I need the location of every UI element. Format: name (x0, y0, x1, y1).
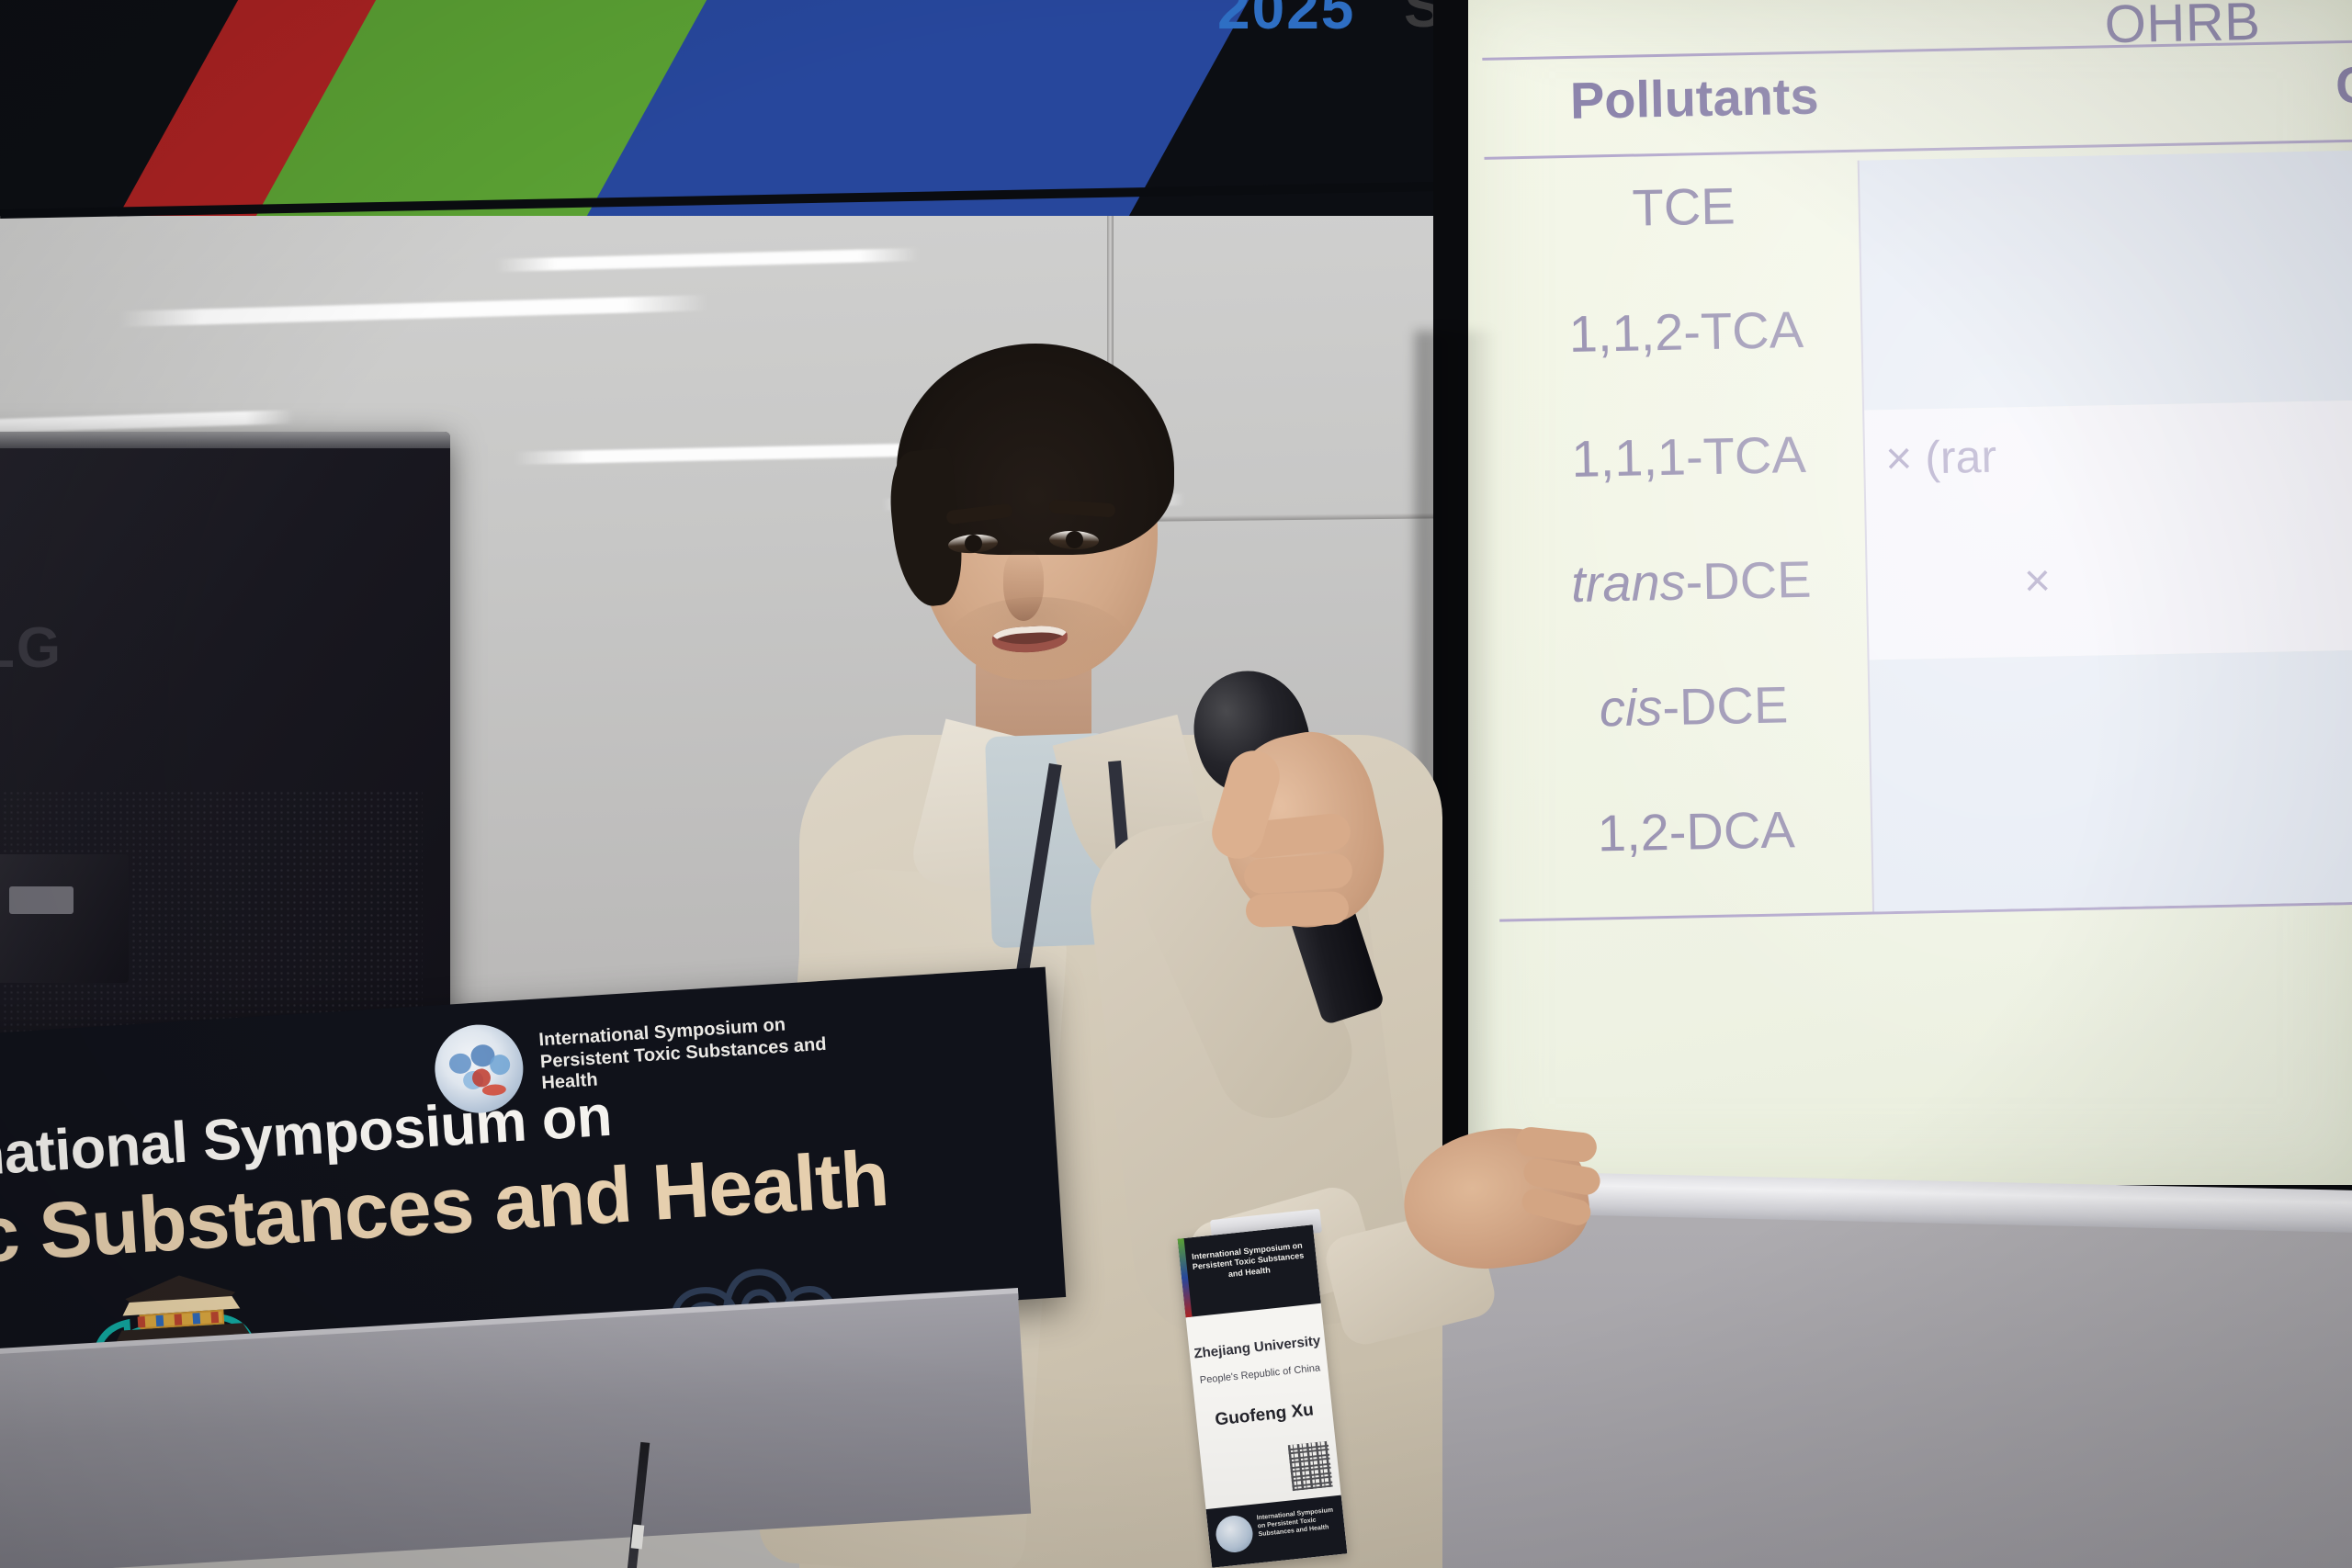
monitor-port (9, 886, 73, 914)
monitor-stand (0, 854, 129, 983)
symposium-logo-text: International Symposium on Persistent To… (538, 1011, 845, 1095)
badge-organization: Zhejiang University (1193, 1333, 1322, 1362)
conference-photo: 2025 S LG OHRB Pollutants C TCE 1,1,2-TC… (0, 0, 2352, 1568)
row-italic-prefix: trans (1571, 553, 1687, 613)
row-pollutant-name: 1,2-DCA (1597, 800, 1795, 862)
badge-country: People's Republic of China (1195, 1362, 1324, 1387)
table-header-c: C (2335, 54, 2352, 115)
monitor-top-edge (0, 432, 450, 448)
table-row: 1,1,2-TCA (1515, 299, 1858, 365)
qr-code-icon (1288, 1441, 1333, 1491)
badge-attendee-name: Guofeng Xu (1199, 1399, 1329, 1433)
lg-logo: LG (0, 615, 62, 681)
row-pollutant-name: 1,1,1-TCA (1571, 425, 1806, 488)
row-italic-prefix: cis (1599, 678, 1663, 737)
speaker-finger (1245, 891, 1349, 928)
table-row: trans-DCE (1520, 548, 1862, 615)
table-row: 1,1,1-TCA (1517, 423, 1860, 490)
row-pollutant-name: -DCE (1685, 550, 1812, 611)
row-pollutant-name: -DCE (1662, 675, 1789, 736)
table-row: 1,2-DCA (1525, 798, 1868, 864)
row-pollutant-name: TCE (1632, 176, 1736, 236)
pointer-stick-tip (631, 1524, 645, 1549)
table-cell-mark: × (2023, 554, 2051, 608)
row-pollutant-name: 1,1,2-TCA (1568, 300, 1804, 363)
table-header-pollutants: Pollutants (1547, 65, 1842, 130)
table-row: TCE (1512, 174, 1855, 240)
presentation-slide: OHRB Pollutants C TCE 1,1,2-TCA 1,1,1-TC… (1461, 0, 2352, 1195)
speaker-nose (1003, 549, 1044, 621)
banner-year-text: 2025 (1217, 0, 1355, 42)
table-band (1860, 145, 2352, 410)
speaker-pupil-right (1066, 531, 1083, 548)
table-cell-mark: × (rar (1885, 430, 1997, 485)
top-event-banner: 2025 S (0, 0, 1488, 216)
speaker-pupil-left (965, 535, 982, 552)
table-band (1870, 645, 2352, 911)
table-row: cis-DCE (1522, 673, 1865, 739)
